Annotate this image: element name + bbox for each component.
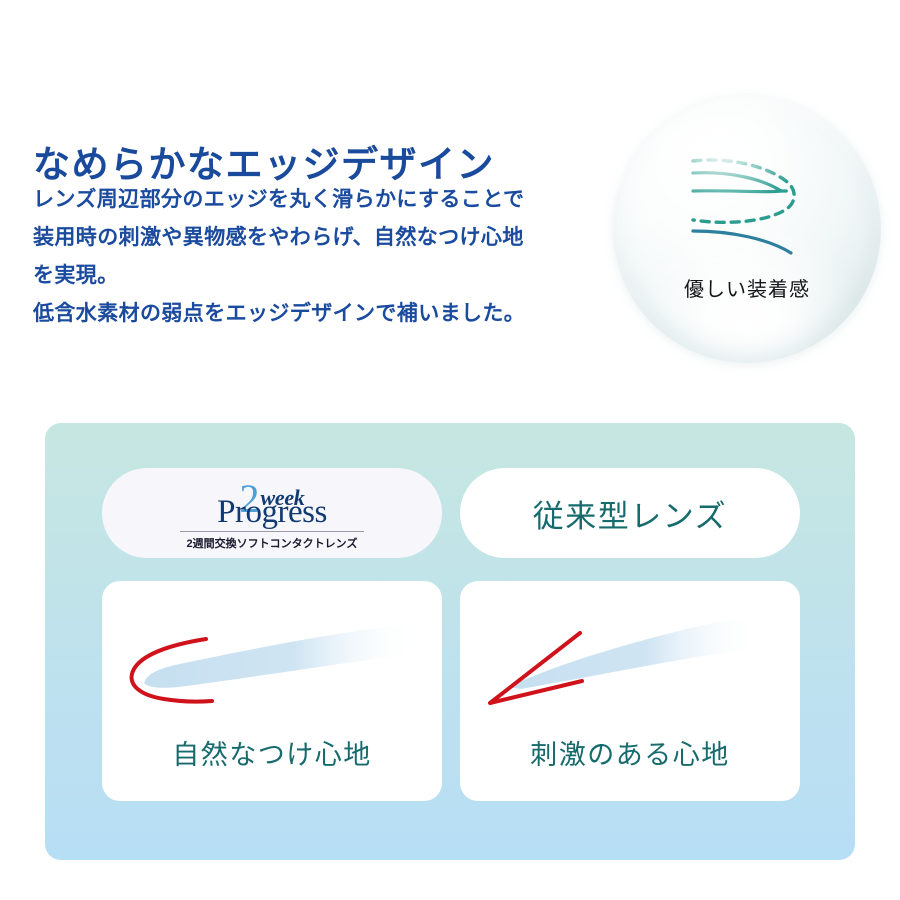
lens-sphere-illustration: 優しい装着感 — [613, 95, 881, 363]
irritating-feel-caption: 刺激のある心地 — [460, 739, 800, 771]
sphere-caption: 優しい装着感 — [613, 273, 881, 302]
rounded-edge-diagram-icon — [102, 595, 442, 745]
body-line: レンズ周辺部分のエッジを丸く滑らかにすることで — [33, 180, 578, 218]
conventional-lens-label: 従来型レンズ — [460, 468, 800, 558]
brand-divider — [180, 531, 364, 532]
lens-comparison-panel: 2week Progress 2週間交換ソフトコンタクトレンズ 従来型レンズ — [45, 423, 855, 860]
2week-progress-logo: 2week Progress 2週間交換ソフトコンタクトレンズ — [102, 468, 442, 558]
body-line: を実現。 — [33, 256, 578, 294]
lens-edge-profile-icon — [687, 147, 813, 257]
pointed-edge-diagram-icon — [460, 595, 800, 745]
irritating-feel-card: 刺激のある心地 — [460, 581, 800, 801]
brand-progress-word: Progress — [102, 496, 442, 529]
brand-tagline: 2週間交換ソフトコンタクトレンズ — [102, 535, 442, 551]
natural-feel-card: 自然なつけ心地 — [102, 581, 442, 801]
natural-feel-caption: 自然なつけ心地 — [102, 739, 442, 771]
body-line: 低含水素材の弱点をエッジデザインで補いました。 — [33, 294, 578, 332]
brand-card: 2week Progress 2週間交換ソフトコンタクトレンズ — [102, 468, 442, 558]
body-line: 装用時の刺激や異物感をやわらげ、自然なつけ心地 — [33, 218, 578, 256]
page-title: なめらかなエッジデザイン — [33, 147, 495, 184]
conventional-lens-card: 従来型レンズ — [460, 468, 800, 558]
edge-design-intro-section: なめらかなエッジデザイン レンズ周辺部分のエッジを丸く滑らかにすることで 装用時… — [0, 0, 900, 415]
intro-body-text: レンズ周辺部分のエッジを丸く滑らかにすることで 装用時の刺激や異物感をやわらげ、… — [33, 180, 578, 332]
